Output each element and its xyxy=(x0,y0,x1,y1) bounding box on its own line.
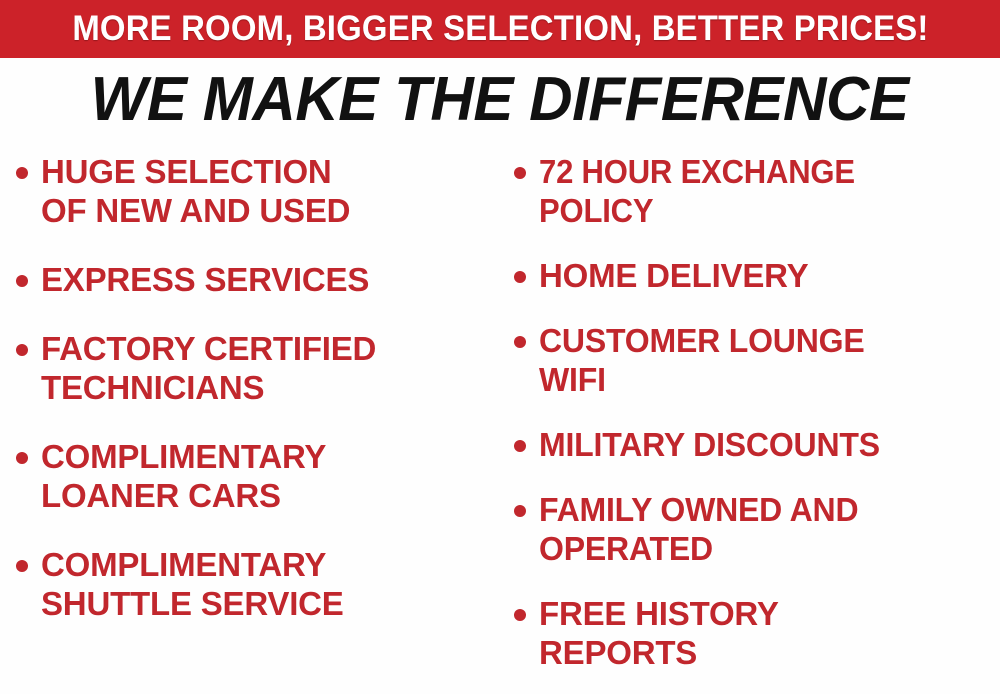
dealership-benefits-poster: MORE ROOM, BIGGER SELECTION, BETTER PRIC… xyxy=(0,0,1000,694)
list-item: HOME DELIVERY xyxy=(514,256,998,295)
benefits-column-left: HUGE SELECTION OF NEW AND USED EXPRESS S… xyxy=(0,152,500,653)
bullet-dot-icon xyxy=(16,452,28,464)
list-item: HUGE SELECTION OF NEW AND USED xyxy=(16,152,496,230)
list-item: EXPRESS SERVICES xyxy=(16,260,496,299)
bullet-dot-icon xyxy=(16,344,28,356)
bullet-dot-icon xyxy=(16,560,28,572)
benefits-columns: HUGE SELECTION OF NEW AND USED EXPRESS S… xyxy=(0,152,1000,692)
list-item: MILITARY DISCOUNTS xyxy=(514,425,998,464)
list-item: FREE HISTORY REPORTS xyxy=(514,594,998,672)
bullet-dot-icon xyxy=(514,336,526,348)
main-headline: WE MAKE THE DIFFERENCE xyxy=(91,67,909,133)
bullet-dot-icon xyxy=(16,275,28,287)
benefit-label-express-services: EXPRESS SERVICES xyxy=(41,260,369,299)
top-promo-banner: MORE ROOM, BIGGER SELECTION, BETTER PRIC… xyxy=(0,0,1000,58)
list-item: 72 HOUR EXCHANGE POLICY xyxy=(514,152,998,230)
benefit-label-family-owned-and-operated: FAMILY OWNED AND OPERATED xyxy=(539,490,858,568)
benefits-column-right: 72 HOUR EXCHANGE POLICY HOME DELIVERY CU… xyxy=(500,152,1000,698)
list-item: COMPLIMENTARY LOANER CARS xyxy=(16,437,496,515)
benefit-label-factory-certified-technicians: FACTORY CERTIFIED TECHNICIANS xyxy=(41,329,376,407)
list-item: FACTORY CERTIFIED TECHNICIANS xyxy=(16,329,496,407)
bullet-dot-icon xyxy=(16,167,28,179)
benefit-label-free-history-reports: FREE HISTORY REPORTS xyxy=(539,594,779,672)
benefit-label-customer-lounge-wifi: CUSTOMER LOUNGE WIFI xyxy=(539,321,865,399)
benefit-label-complimentary-loaner-cars: COMPLIMENTARY LOANER CARS xyxy=(41,437,326,515)
benefit-label-military-discounts: MILITARY DISCOUNTS xyxy=(539,425,880,464)
benefit-label-huge-selection: HUGE SELECTION OF NEW AND USED xyxy=(41,152,350,230)
headline-container: WE MAKE THE DIFFERENCE xyxy=(0,62,1000,138)
bullet-dot-icon xyxy=(514,167,526,179)
list-item: COMPLIMENTARY SHUTTLE SERVICE xyxy=(16,545,496,623)
benefit-label-72-hour-exchange-policy: 72 HOUR EXCHANGE POLICY xyxy=(539,152,855,230)
bullet-dot-icon xyxy=(514,609,526,621)
list-item: FAMILY OWNED AND OPERATED xyxy=(514,490,998,568)
promo-banner-text: MORE ROOM, BIGGER SELECTION, BETTER PRIC… xyxy=(72,11,928,47)
bullet-dot-icon xyxy=(514,271,526,283)
bullet-dot-icon xyxy=(514,505,526,517)
benefit-label-home-delivery: HOME DELIVERY xyxy=(539,256,808,295)
list-item: CUSTOMER LOUNGE WIFI xyxy=(514,321,998,399)
bullet-dot-icon xyxy=(514,440,526,452)
benefit-label-complimentary-shuttle-service: COMPLIMENTARY SHUTTLE SERVICE xyxy=(41,545,344,623)
